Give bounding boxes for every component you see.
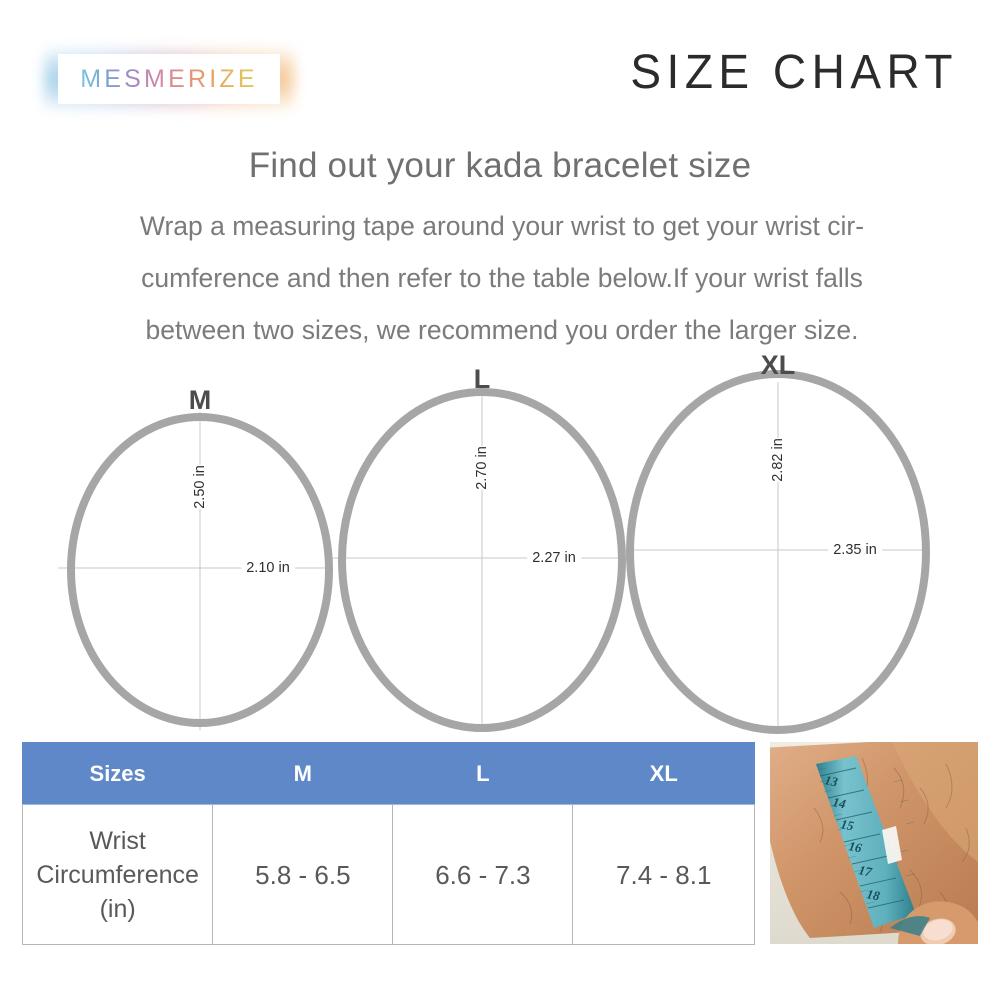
- wrist-measuring-tape-photo: 13 14 15 16 17 18: [770, 742, 978, 944]
- oval-width-m: 2.10 in: [241, 560, 295, 576]
- oval-label-l: L: [474, 364, 491, 395]
- table-body: Wrist Circumference (in) 5.8 - 6.5 6.6 -…: [23, 805, 755, 945]
- oval-diagrams: M 2.50 in 2.10 in L 2.70 in 2.27 in XL 2…: [0, 0, 1000, 745]
- oval-width-xl: 2.35 in: [828, 542, 882, 558]
- size-table: Sizes M L XL Wrist Circumference (in) 5.…: [22, 742, 755, 945]
- oval-height-l: 2.70 in: [470, 446, 494, 490]
- table-row: Wrist Circumference (in) 5.8 - 6.5 6.6 -…: [23, 805, 755, 945]
- cell-wrist-l: 6.6 - 7.3: [393, 805, 573, 945]
- row-label-wrist-circumference: Wrist Circumference (in): [23, 805, 213, 945]
- cell-wrist-xl: 7.4 - 8.1: [573, 805, 755, 945]
- oval-height-m: 2.50 in: [188, 465, 212, 509]
- table-header-xl: XL: [573, 743, 755, 805]
- size-chart-page: MESMERIZE SIZE CHART Find out your kada …: [0, 0, 1000, 1000]
- row-label-line-1: Wrist: [23, 824, 212, 858]
- cell-wrist-m: 5.8 - 6.5: [213, 805, 393, 945]
- oval-label-xl: XL: [761, 350, 796, 381]
- table-header-sizes: Sizes: [23, 743, 213, 805]
- table-header-row: Sizes M L XL: [23, 743, 755, 805]
- oval-height-xl: 2.82 in: [766, 438, 790, 482]
- table-header-l: L: [393, 743, 573, 805]
- oval-diagrams-svg: [0, 0, 1000, 745]
- oval-width-l: 2.27 in: [527, 550, 581, 566]
- oval-label-m: M: [189, 385, 212, 416]
- table-header-m: M: [213, 743, 393, 805]
- row-label-line-2: Circumference: [23, 858, 212, 892]
- table-header: Sizes M L XL: [23, 743, 755, 805]
- row-label-line-3: (in): [23, 892, 212, 926]
- photo-illustration: 13 14 15 16 17 18: [770, 742, 978, 944]
